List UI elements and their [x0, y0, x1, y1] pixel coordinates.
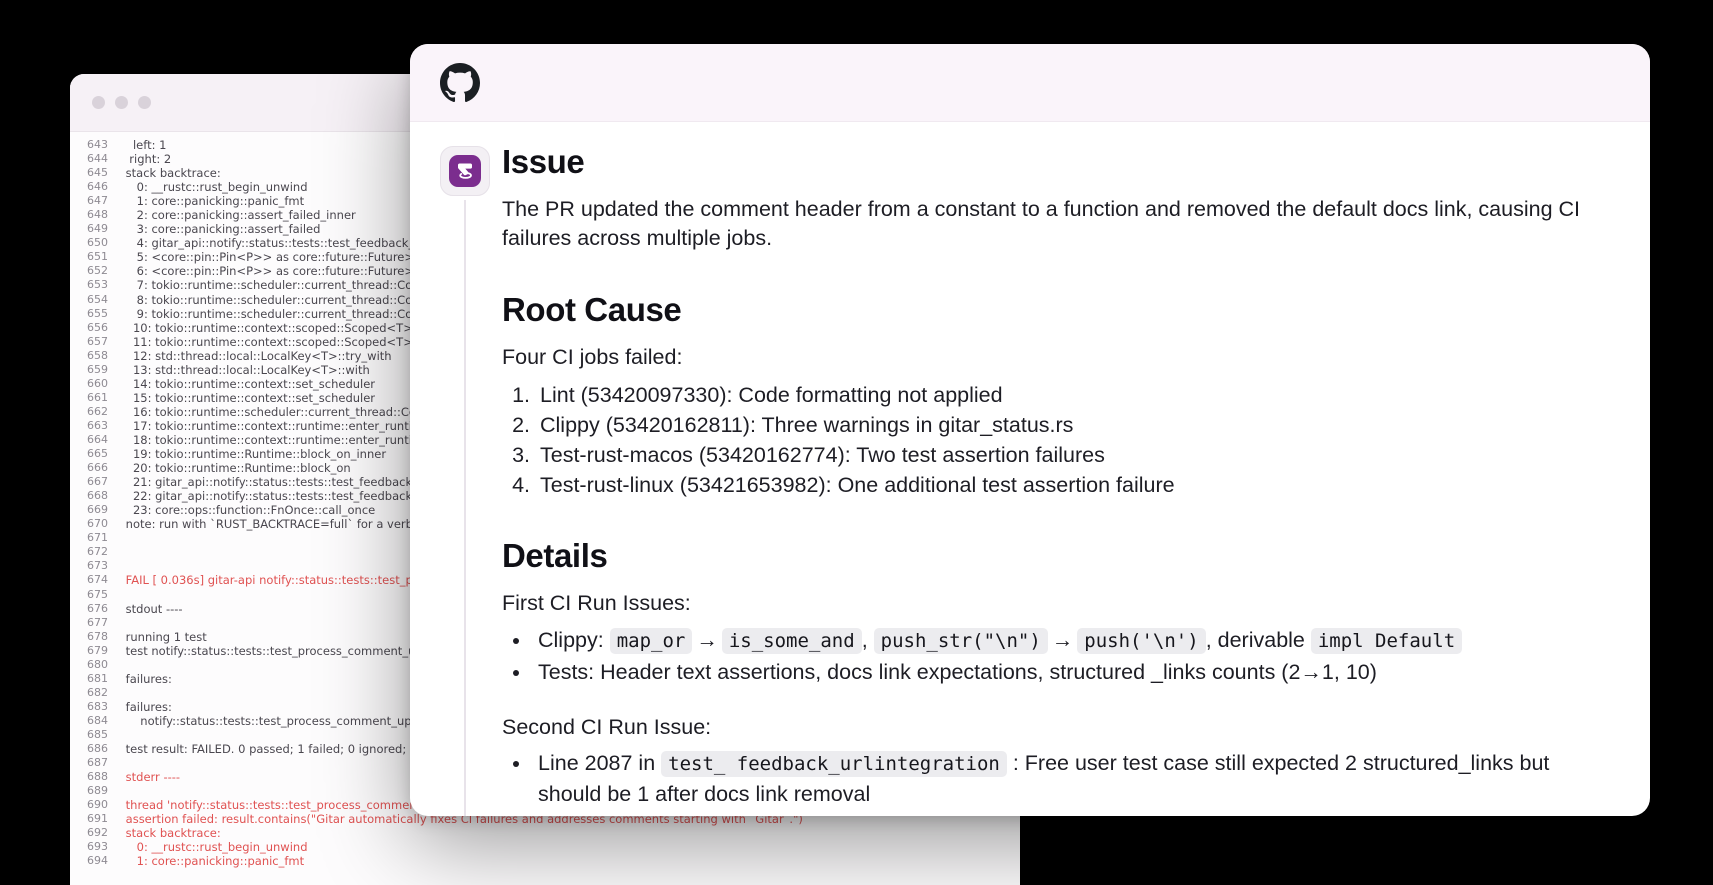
line-number: 683 — [70, 700, 122, 714]
failed-jobs-list: Lint (53420097330): Code formatting not … — [536, 380, 1610, 500]
line-number: 666 — [70, 461, 122, 475]
thread-column — [436, 146, 494, 816]
section-heading-root-cause: Root Cause — [502, 292, 1610, 329]
details-bullet-item: Tests: Header text assertions, docs link… — [532, 657, 1610, 687]
failed-job-item: Test-rust-linux (53421653982): One addit… — [536, 470, 1610, 500]
maximize-dot[interactable] — [138, 96, 151, 109]
line-number: 687 — [70, 756, 122, 770]
modal-header — [410, 44, 1650, 122]
github-issue-modal: Issue The PR updated the comment header … — [410, 44, 1650, 816]
thread-line — [464, 200, 466, 816]
details-bullet-list: Line 2087 in test_ feedback_urlintegrati… — [532, 748, 1610, 809]
line-number: 672 — [70, 545, 122, 559]
line-number: 665 — [70, 447, 122, 461]
arrow-glyph: → — [1048, 628, 1078, 652]
line-number: 690 — [70, 798, 122, 812]
line-number: 689 — [70, 784, 122, 798]
line-number: 654 — [70, 293, 122, 307]
inline-code: push_str("\n") — [874, 628, 1048, 654]
details-block-label: Second CI Run Issue: — [502, 713, 1610, 743]
line-number: 676 — [70, 602, 122, 616]
arrow-glyph: → — [692, 628, 722, 652]
line-number: 646 — [70, 180, 122, 194]
section-heading-issue: Issue — [502, 144, 1610, 181]
line-number: 673 — [70, 559, 122, 573]
terminal-line: 694 1: core::panicking::panic_fmt — [70, 854, 1020, 868]
line-number: 658 — [70, 349, 122, 363]
line-number: 656 — [70, 321, 122, 335]
line-number: 651 — [70, 250, 122, 264]
inline-code: map_or — [610, 628, 693, 654]
inline-code: is_some_and — [722, 628, 862, 654]
line-number: 693 — [70, 840, 122, 854]
line-number: 688 — [70, 770, 122, 784]
failed-job-item: Clippy (53420162811): Three warnings in … — [536, 410, 1610, 440]
failed-job-item: Test-rust-macos (53420162774): Two test … — [536, 440, 1610, 470]
line-number: 645 — [70, 166, 122, 180]
line-number: 682 — [70, 686, 122, 700]
details-bullet-list: Clippy: map_or→is_some_and, push_str("\n… — [532, 625, 1610, 687]
line-number: 664 — [70, 433, 122, 447]
line-number: 680 — [70, 658, 122, 672]
github-mark-icon — [440, 63, 480, 103]
line-number: 675 — [70, 588, 122, 602]
line-number: 677 — [70, 616, 122, 630]
line-number: 669 — [70, 503, 122, 517]
line-text: 0: __rustc::rust_begin_unwind — [122, 840, 1020, 854]
line-number: 681 — [70, 672, 122, 686]
inline-code: impl Default — [1311, 628, 1462, 654]
line-text: 1: core::panicking::panic_fmt — [122, 854, 1020, 868]
section-heading-details: Details — [502, 538, 1610, 575]
inline-code: test_ feedback_urlintegration — [661, 751, 1007, 777]
line-number: 650 — [70, 236, 122, 250]
issue-article: Issue The PR updated the comment header … — [502, 144, 1650, 809]
line-number: 661 — [70, 391, 122, 405]
line-number: 652 — [70, 264, 122, 278]
line-number: 655 — [70, 307, 122, 321]
line-number: 653 — [70, 278, 122, 292]
root-cause-intro: Four CI jobs failed: — [502, 343, 1610, 373]
line-number: 692 — [70, 826, 122, 840]
line-number: 644 — [70, 152, 122, 166]
close-dot[interactable] — [92, 96, 105, 109]
details-block-label: First CI Run Issues: — [502, 589, 1610, 619]
inline-code: push('\n') — [1077, 628, 1205, 654]
terminal-line: 693 0: __rustc::rust_begin_unwind — [70, 840, 1020, 854]
details-bullet-item: Line 2087 in test_ feedback_urlintegrati… — [532, 748, 1610, 809]
line-number: 684 — [70, 714, 122, 728]
line-number: 678 — [70, 630, 122, 644]
line-number: 643 — [70, 138, 122, 152]
issue-summary-paragraph: The PR updated the comment header from a… — [502, 195, 1610, 254]
line-number: 685 — [70, 728, 122, 742]
line-number: 691 — [70, 812, 122, 826]
line-number: 647 — [70, 194, 122, 208]
line-number: 660 — [70, 377, 122, 391]
details-bullet-item: Clippy: map_or→is_some_and, push_str("\n… — [532, 625, 1610, 656]
gitar-agent-icon — [440, 146, 490, 196]
line-number: 686 — [70, 742, 122, 756]
modal-content: Issue The PR updated the comment header … — [410, 122, 1650, 816]
line-number: 670 — [70, 517, 122, 531]
line-number: 668 — [70, 489, 122, 503]
line-number: 674 — [70, 573, 122, 587]
line-number: 649 — [70, 222, 122, 236]
line-number: 662 — [70, 405, 122, 419]
failed-job-item: Lint (53420097330): Code formatting not … — [536, 380, 1610, 410]
line-number: 671 — [70, 531, 122, 545]
line-number: 648 — [70, 208, 122, 222]
line-number: 663 — [70, 419, 122, 433]
details-blocks: First CI Run Issues:Clippy: map_or→is_so… — [502, 589, 1610, 809]
line-number: 657 — [70, 335, 122, 349]
minimize-dot[interactable] — [115, 96, 128, 109]
line-number: 667 — [70, 475, 122, 489]
line-number: 694 — [70, 854, 122, 868]
line-text: stack backtrace: — [122, 826, 1020, 840]
screenshot-stage: 643 left: 1644 right: 2645 stack backtra… — [0, 0, 1713, 885]
terminal-line: 692 stack backtrace: — [70, 826, 1020, 840]
line-number: 679 — [70, 644, 122, 658]
line-number: 659 — [70, 363, 122, 377]
